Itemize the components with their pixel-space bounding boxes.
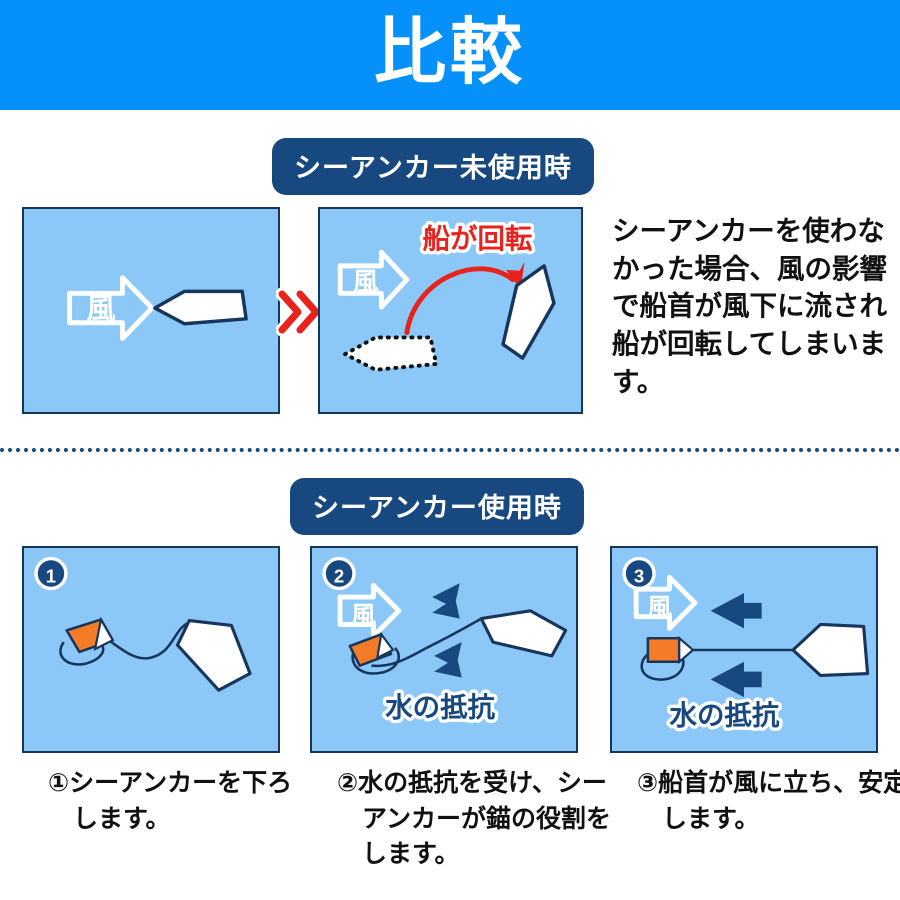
caption-step-1: ①シーアンカーを下ろします。 xyxy=(48,766,313,837)
section-badge-used: シーアンカー使用時 xyxy=(290,478,584,535)
wind-arrow-icon: 風 xyxy=(340,585,399,636)
sea-anchor-icon xyxy=(350,634,393,665)
infographic-page: 比較 シーアンカー未使用時 風 xyxy=(0,0,900,900)
resistance-label: 水の抵抗 水の抵抗 xyxy=(384,692,495,723)
resistance-arrow-icon xyxy=(432,583,461,677)
boat-icon xyxy=(177,621,250,691)
page-header: 比較 xyxy=(0,0,900,110)
svg-text:水の抵抗: 水の抵抗 xyxy=(669,700,780,731)
svg-text:3: 3 xyxy=(634,565,644,586)
boat-icon xyxy=(793,624,868,675)
wind-arrow-icon: 風 xyxy=(340,252,407,307)
section-badge-unused: シーアンカー未使用時 xyxy=(272,138,594,195)
rotation-callout-label: 船が回転 船が回転 xyxy=(423,223,533,254)
section-divider xyxy=(0,448,900,452)
svg-text:2: 2 xyxy=(334,565,344,586)
svg-text:風: 風 xyxy=(352,267,379,297)
boat-icon xyxy=(481,611,565,656)
panel-no-anchor-rotated: 風 船が回転 船が回転 xyxy=(318,207,583,414)
resistance-arrow-icon xyxy=(711,593,762,697)
panel-step-3: 3 風 xyxy=(610,546,878,753)
svg-text:船が回転: 船が回転 xyxy=(423,223,533,254)
resistance-label: 水の抵抗 水の抵抗 xyxy=(669,700,780,731)
step-number-badge-3: 3 xyxy=(622,557,655,590)
step-number-badge-2: 2 xyxy=(322,557,355,590)
ghost-boat-icon xyxy=(345,337,436,369)
svg-text:水の抵抗: 水の抵抗 xyxy=(384,692,495,723)
double-chevron-right-icon xyxy=(276,282,322,342)
svg-text:1: 1 xyxy=(46,565,56,586)
panel-no-anchor-initial: 風 xyxy=(22,207,280,414)
wind-arrow-icon: 風 xyxy=(70,278,152,339)
step-number-badge-1: 1 xyxy=(34,557,67,590)
sea-anchor-icon xyxy=(648,638,693,662)
panel-step-1: 1 xyxy=(22,546,280,753)
sea-anchor-icon xyxy=(67,620,113,652)
svg-text:風: 風 xyxy=(647,595,673,623)
svg-text:風: 風 xyxy=(351,602,377,630)
panel-step-2: 2 風 xyxy=(310,546,578,753)
page-title: 比較 xyxy=(374,17,526,89)
caption-step-2: ②水の抵抗を受け、シーアンカーが錨の役割をします。 xyxy=(337,766,612,873)
section-description-unused: シーアンカーを使わなかった場合、風の影響で船首が風下に流され船が回転してしまいま… xyxy=(612,212,892,400)
caption-step-3: ③船首が風に立ち、安定します。 xyxy=(637,766,900,837)
boat-icon xyxy=(155,291,246,323)
svg-text:風: 風 xyxy=(86,293,115,326)
